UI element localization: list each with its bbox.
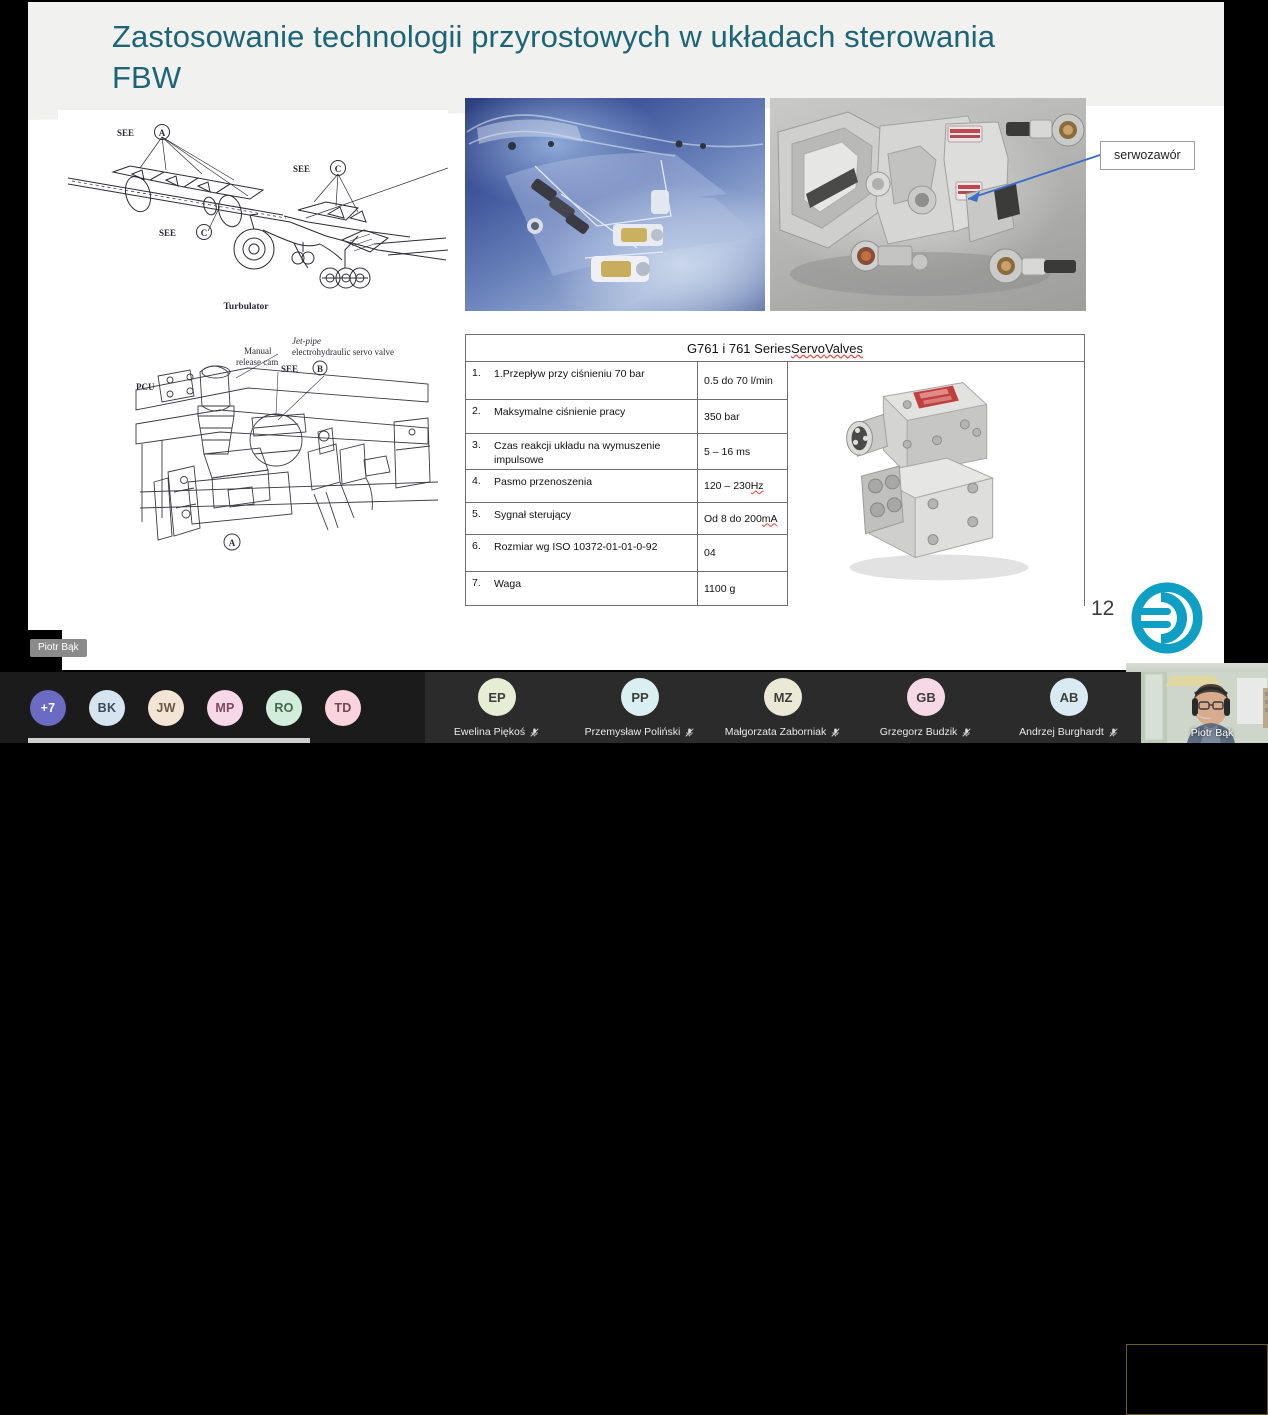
avatar-initials: TD [334, 701, 351, 715]
avatar-initials: JW [156, 701, 175, 715]
see-c-upper-label: SEE [293, 164, 310, 174]
aircraft-actuation-render-photo [465, 98, 765, 311]
participant-name-text: Małgorzata Zaborniak [725, 726, 827, 738]
mic-muted-icon [684, 727, 695, 738]
detail-a-circle-letter: A [229, 538, 236, 548]
row-index: 3. [466, 434, 492, 469]
row-value-text: 0.5 do 70 l/min [704, 375, 773, 387]
row-value-text: 350 bar [704, 411, 740, 423]
table-row: 7. Waga [466, 572, 697, 606]
row-value: 0.5 do 70 l/min [698, 362, 787, 400]
pcu-servo-valve-diagram: PCU Manual release cam Jet-pipe electroh… [128, 332, 448, 562]
row-name: Czas reakcji układu na wymuszenie impuls… [492, 434, 697, 469]
spec-table-title-prefix: G761 i 761 Series [687, 341, 791, 356]
row-value-text: 5 – 16 ms [704, 446, 750, 458]
jetpipe-label-line1: Jet-pipe [292, 336, 321, 346]
row-value-text: 1100 g [704, 583, 735, 595]
callout-serwozawor: serwozawór [1100, 141, 1195, 170]
avatar-strip: +7 BK JW MP RO TD [0, 672, 425, 743]
servo-valve-photo [788, 362, 1084, 606]
table-row: 6. Rozmiar wg ISO 10372-01-01-0-92 [466, 535, 697, 572]
row-value-text: 04 [704, 547, 716, 559]
avatar: GB [907, 678, 945, 716]
participant-name-text: Przemysław Poliński [585, 726, 681, 738]
row-name: Waga [492, 572, 697, 606]
manual-release-cam-label-line1: Manual [244, 346, 272, 356]
table-row: 3. Czas reakcji układu na wymuszenie imp… [466, 434, 697, 470]
servo-valve-photo-cell [788, 362, 1084, 606]
table-row: 2. Maksymalne ciśnienie pracy [466, 400, 697, 434]
avatar: EP [478, 678, 516, 716]
participant-name: Andrzej Burghardt [998, 726, 1140, 738]
see-a-label: SEE [117, 128, 134, 138]
participant-name-text: Andrzej Burghardt [1019, 726, 1104, 738]
avatar[interactable]: MP [207, 690, 243, 726]
row-index: 4. [466, 470, 492, 502]
avatar: PP [621, 678, 659, 716]
avatar-initials: RO [274, 701, 293, 715]
row-value-unit: mA [762, 513, 778, 525]
see-c-upper-circle-letter: C [335, 164, 342, 174]
participant-name: Ewelina Piękoś [426, 726, 568, 738]
avatar[interactable]: TD [325, 690, 361, 726]
presenter-name-pill: Piotr Bąk [30, 639, 87, 657]
turbulator-caption: Turbulator [223, 302, 269, 312]
spec-table-title-servo: Servo [791, 341, 825, 356]
avatar: MZ [764, 678, 802, 716]
avatar[interactable]: BK [89, 690, 125, 726]
mic-muted-icon [961, 727, 972, 738]
mic-muted-icon [529, 727, 540, 738]
spec-table-name-column: 1. 1.Przepływ przy ciśnieniu 70 bar 2. M… [466, 362, 698, 606]
participant-name-text: Grzegorz Budzik [880, 726, 958, 738]
see-c-lower-label: SEE [159, 228, 176, 238]
avatar[interactable]: RO [266, 690, 302, 726]
row-index: 1. [466, 362, 492, 399]
participant-name: Przemysław Poliński [569, 726, 711, 738]
participant-name-text: Piotr Bąk [1191, 727, 1234, 739]
callout-leader-line [968, 147, 1108, 207]
row-index: 7. [466, 572, 492, 606]
row-name: Pasmo przenoszenia [492, 470, 697, 502]
avatar-initials: PP [631, 690, 648, 705]
participant-tile[interactable]: PP Przemysław Poliński [568, 672, 711, 743]
bottom-edge-sliver [28, 738, 310, 743]
overflow-badge-label: +7 [41, 701, 56, 715]
presentation-slide[interactable]: Zastosowanie technologii przyrostowych w… [28, 2, 1224, 670]
table-row: 5. Sygnał sterujący [466, 503, 697, 535]
avatar: AB [1050, 678, 1088, 716]
aircraft-wing-diagram: SEE A SEE C SEE C Turbulator [58, 110, 448, 325]
spec-table-value-column: 0.5 do 70 l/min 350 bar 5 – 16 ms 120 – … [698, 362, 788, 606]
pcu-label: PCU [136, 382, 155, 392]
row-index: 2. [466, 400, 492, 433]
avatar[interactable]: JW [148, 690, 184, 726]
spec-table-title-valves: Valves [825, 341, 863, 356]
table-row: 4. Pasmo przenoszenia [466, 470, 697, 503]
avatar-initials: GB [916, 690, 936, 705]
mic-muted-icon [830, 727, 841, 738]
row-value: 1100 g [698, 572, 787, 606]
spec-table: G761 i 761 Series Servo Valves 1. 1.Prze… [465, 334, 1085, 606]
manual-release-cam-label-line2: release cam [236, 357, 278, 367]
participant-tile[interactable]: MZ Małgorzata Zaborniak [711, 672, 854, 743]
jetpipe-label-line2: electrohydraulic servo valve [292, 347, 394, 357]
participant-tile[interactable]: GB Grzegorz Budzik [854, 672, 997, 743]
see-c-lower-circle-letter: C [201, 228, 208, 238]
row-name: Rozmiar wg ISO 10372-01-01-0-92 [492, 535, 697, 571]
page-title: Zastosowanie technologii przyrostowych w… [112, 16, 1072, 98]
mic-muted-icon [1108, 727, 1119, 738]
self-view-tile[interactable]: Piotr Bąk [1140, 672, 1268, 743]
row-value: 04 [698, 535, 787, 572]
row-value-text: 120 – 230 [704, 480, 751, 492]
row-name: Sygnał sterujący [492, 503, 697, 534]
brand-logo-icon [1131, 582, 1203, 654]
participant-bar: +7 BK JW MP RO TD EP Ewelina Piękoś [0, 672, 1268, 743]
row-index: 6. [466, 535, 492, 571]
row-value-unit: Hz [751, 480, 764, 492]
row-value: 120 – 230 Hz [698, 470, 787, 503]
participant-tile[interactable]: AB Andrzej Burghardt [997, 672, 1140, 743]
meeting-stage: Zastosowanie technologii przyrostowych w… [0, 0, 1268, 672]
table-row: 1. 1.Przepływ przy ciśnieniu 70 bar [466, 362, 697, 400]
row-name: Maksymalne ciśnienie pracy [492, 400, 697, 433]
row-value: 5 – 16 ms [698, 434, 787, 470]
avatar-initials: AB [1060, 690, 1079, 705]
see-b-circle-letter: B [317, 364, 323, 374]
participant-tile[interactable]: EP Ewelina Piękoś [425, 672, 568, 743]
avatar-initials: BK [98, 701, 117, 715]
row-name: 1.Przepływ przy ciśnieniu 70 bar [492, 362, 697, 399]
see-b-label: SEE [281, 364, 298, 374]
spec-table-body: 1. 1.Przepływ przy ciśnieniu 70 bar 2. M… [466, 362, 1084, 606]
spec-table-title: G761 i 761 Series Servo Valves [466, 335, 1084, 362]
aircraft-wing-svg: SEE A SEE C SEE C Turbulator [58, 110, 448, 325]
avatar-initials: EP [488, 690, 505, 705]
avatar-initials: MP [215, 701, 234, 715]
row-value-text: Od 8 do 200 [704, 513, 762, 525]
participant-name-text: Ewelina Piękoś [454, 726, 525, 738]
avatar-initials: MZ [774, 690, 793, 705]
row-index: 5. [466, 503, 492, 534]
self-view-highlight-border [1126, 1344, 1268, 1415]
row-value: Od 8 do 200 mA [698, 503, 787, 535]
participant-tiles: EP Ewelina Piękoś PP Przemysław Poliński [425, 672, 1268, 743]
row-value: 350 bar [698, 400, 787, 434]
slide-number: 12 [1091, 597, 1114, 621]
callout-serwozawor-label: serwozawór [1114, 148, 1181, 162]
pcu-servo-valve-svg: PCU Manual release cam Jet-pipe electroh… [128, 332, 448, 562]
overflow-badge[interactable]: +7 [30, 690, 66, 726]
participant-name: Grzegorz Budzik [855, 726, 997, 738]
see-a-circle-letter: A [159, 128, 166, 138]
participant-name: Piotr Bąk [1141, 727, 1268, 739]
participant-name: Małgorzata Zaborniak [712, 726, 854, 738]
